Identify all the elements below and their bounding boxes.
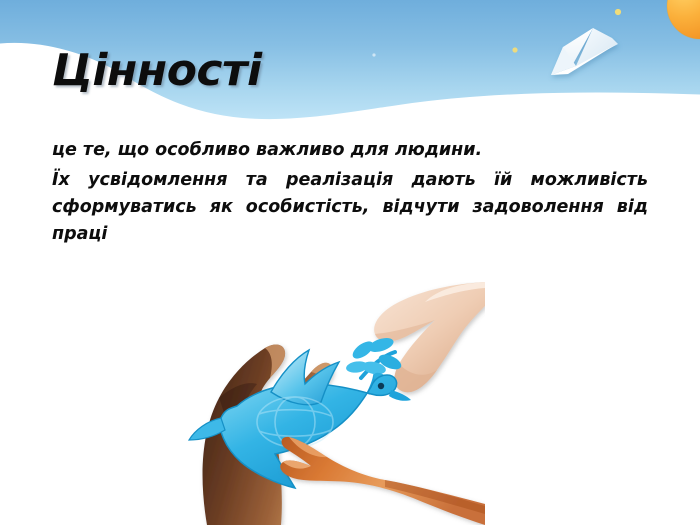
tan-skin-hand-bottom-right — [280, 437, 485, 525]
body-text-block: це те, що особливо важливо для людини. Ї… — [52, 137, 648, 251]
dove-eye-icon — [378, 383, 384, 389]
page-title: Цінності — [52, 45, 262, 97]
hands-dove-picture — [185, 282, 485, 525]
paragraph-lead: це те, що особливо важливо для людини. — [52, 137, 648, 164]
hands-dove-illustration — [185, 282, 485, 525]
paragraph-detail: Їх усвідомлення та реалізація дають їй м… — [52, 167, 648, 248]
slide-canvas: Цінності це те, що особливо важливо для … — [0, 0, 700, 525]
